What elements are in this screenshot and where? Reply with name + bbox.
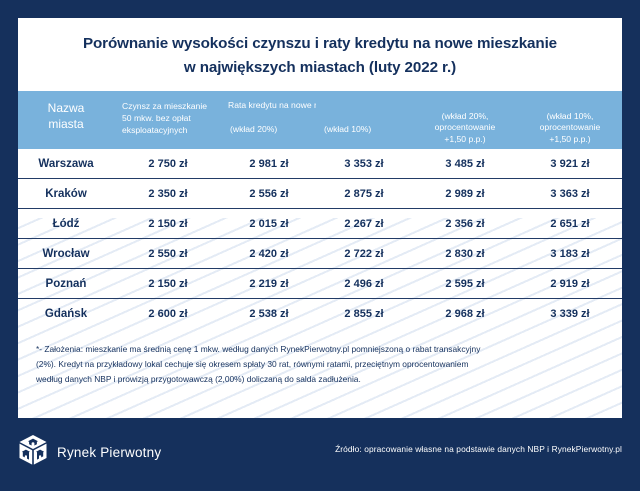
table-cell-value: 2 595 zł (412, 269, 518, 299)
table-cell-value: 3 485 zł (412, 149, 518, 179)
table-cell-value: 2 350 zł (114, 179, 222, 209)
table-row: Gdańsk2 600 zł2 538 zł2 855 zł2 968 zł3 … (18, 299, 622, 329)
header-sub-4-line-2: oprocentowanie (524, 122, 616, 133)
brand-name: Rynek Pierwotny (57, 445, 161, 460)
table-cell-value: 2 556 zł (222, 179, 316, 209)
table-row: Poznań2 150 zł2 219 zł2 496 zł2 595 zł2 … (18, 269, 622, 299)
table-cell-value: 2 830 zł (412, 239, 518, 269)
table-header-row: Nazwa miasta Czynsz za mieszkanie 50 mkw… (18, 91, 622, 149)
table-cell-value: 2 356 zł (412, 209, 518, 239)
table-cell-value: 2 855 zł (316, 299, 412, 329)
header-credit-col-2: (wkład 10%) (316, 91, 412, 149)
table-cell-city: Poznań (18, 269, 114, 299)
table-cell-city: Łódź (18, 209, 114, 239)
table-cell-value: 2 538 zł (222, 299, 316, 329)
header-sub-3: (wkład 20%, oprocentowanie +1,50 p.p.) (418, 100, 512, 145)
table-cell-value: 3 339 zł (518, 299, 622, 329)
table-cell-value: 2 919 zł (518, 269, 622, 299)
table-cell-value: 3 183 zł (518, 239, 622, 269)
header-sub-4-line-1: (wkład 10%, (524, 111, 616, 122)
table-row: Wrocław2 550 zł2 420 zł2 722 zł2 830 zł3… (18, 239, 622, 269)
table-cell-value: 2 550 zł (114, 239, 222, 269)
content-card: Porównanie wysokości czynszu i raty kred… (18, 18, 622, 418)
table-cell-value: 3 353 zł (316, 149, 412, 179)
header-city-line-2: miasta (22, 116, 110, 132)
table-cell-city: Warszawa (18, 149, 114, 179)
cube-icon (18, 434, 48, 471)
footnote-line-2: (2%). Kredyt na przykładowy lokal cechuj… (36, 357, 604, 372)
table-cell-value: 2 015 zł (222, 209, 316, 239)
footnote-line-3: według danych NBP i prowizją przygotowaw… (36, 372, 604, 387)
title-line-2: w największych miastach (luty 2022 r.) (52, 56, 588, 80)
header-sub-4-line-3: +1,50 p.p.) (524, 134, 616, 145)
table-cell-value: 2 600 zł (114, 299, 222, 329)
table-cell-value: 2 989 zł (412, 179, 518, 209)
infographic-root: Porównanie wysokości czynszu i raty kred… (0, 0, 640, 491)
table-cell-value: 2 150 zł (114, 209, 222, 239)
footnote: *- Założenia: mieszkanie ma średnią cenę… (36, 342, 604, 386)
brand-logo: Rynek Pierwotny (18, 434, 161, 471)
table-cell-value: 2 267 zł (316, 209, 412, 239)
table-cell-city: Wrocław (18, 239, 114, 269)
page-title: Porównanie wysokości czynszu i raty kred… (18, 18, 622, 91)
table-cell-city: Kraków (18, 179, 114, 209)
table-cell-value: 2 496 zł (316, 269, 412, 299)
table-row: Kraków2 350 zł2 556 zł2 875 zł2 989 zł3 … (18, 179, 622, 209)
header-city-line-1: Nazwa (22, 100, 110, 116)
header-rent: Czynsz za mieszkanie 50 mkw. bez opłat e… (114, 91, 222, 149)
header-sub-3-line-3: +1,50 p.p.) (418, 134, 512, 145)
header-sub-2: (wkład 10%) (322, 100, 406, 135)
header-sub-3-line-1: (wkład 20%, (418, 111, 512, 122)
table-body: Warszawa2 750 zł2 981 zł3 353 zł3 485 zł… (18, 149, 622, 328)
table-cell-value: 2 750 zł (114, 149, 222, 179)
footnote-line-1: *- Założenia: mieszkanie ma średnią cenę… (36, 342, 604, 357)
header-credit-col-3: (wkład 20%, oprocentowanie +1,50 p.p.) (412, 91, 518, 149)
table-cell-value: 2 150 zł (114, 269, 222, 299)
table-row: Łódź2 150 zł2 015 zł2 267 zł2 356 zł2 65… (18, 209, 622, 239)
table-cell-value: 3 921 zł (518, 149, 622, 179)
table-cell-value: 2 981 zł (222, 149, 316, 179)
table-row: Warszawa2 750 zł2 981 zł3 353 zł3 485 zł… (18, 149, 622, 179)
title-line-1: Porównanie wysokości czynszu i raty kred… (52, 32, 588, 56)
table-cell-value: 2 651 zł (518, 209, 622, 239)
header-credit-group: Rata kredytu na nowe mieszkanie o powier… (222, 91, 316, 149)
table-cell-value: 2 420 zł (222, 239, 316, 269)
table-cell-city: Gdańsk (18, 299, 114, 329)
source-note: Źródło: opracowanie własne na podstawie … (335, 444, 622, 454)
table-cell-value: 3 363 zł (518, 179, 622, 209)
header-sub-4: (wkład 10%, oprocentowanie +1,50 p.p.) (524, 100, 616, 145)
comparison-table: Nazwa miasta Czynsz za mieszkanie 50 mkw… (18, 91, 622, 328)
footer-bar: Rynek Pierwotny Źródło: opracowanie włas… (0, 418, 640, 491)
table-cell-value: 2 219 zł (222, 269, 316, 299)
table-cell-value: 2 875 zł (316, 179, 412, 209)
table-cell-value: 2 722 zł (316, 239, 412, 269)
table-cell-value: 2 968 zł (412, 299, 518, 329)
header-sub-3-line-2: oprocentowanie (418, 122, 512, 133)
header-city: Nazwa miasta (18, 91, 114, 149)
header-credit-col-4: (wkład 10%, oprocentowanie +1,50 p.p.) (518, 91, 622, 149)
